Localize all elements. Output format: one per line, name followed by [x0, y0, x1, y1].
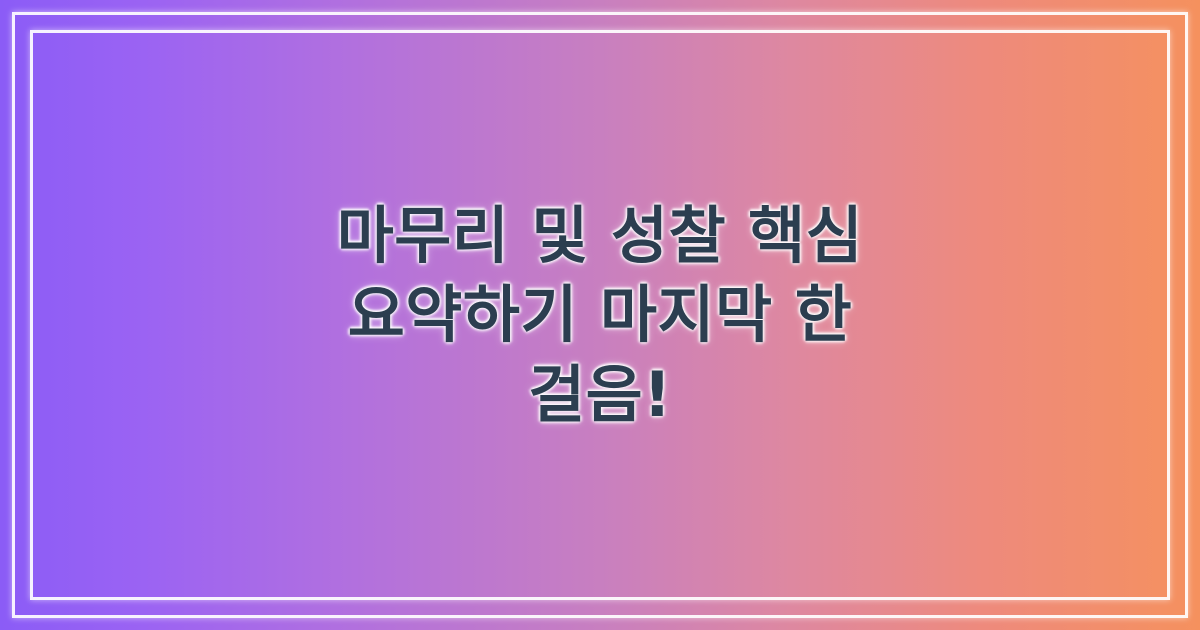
cover-card: 마무리 및 성찰 핵심 요약하기 마지막 한 걸음!	[0, 0, 1200, 630]
page-title: 마무리 및 성찰 핵심 요약하기 마지막 한 걸음!	[290, 196, 910, 434]
headline-container: 마무리 및 성찰 핵심 요약하기 마지막 한 걸음!	[0, 0, 1200, 630]
